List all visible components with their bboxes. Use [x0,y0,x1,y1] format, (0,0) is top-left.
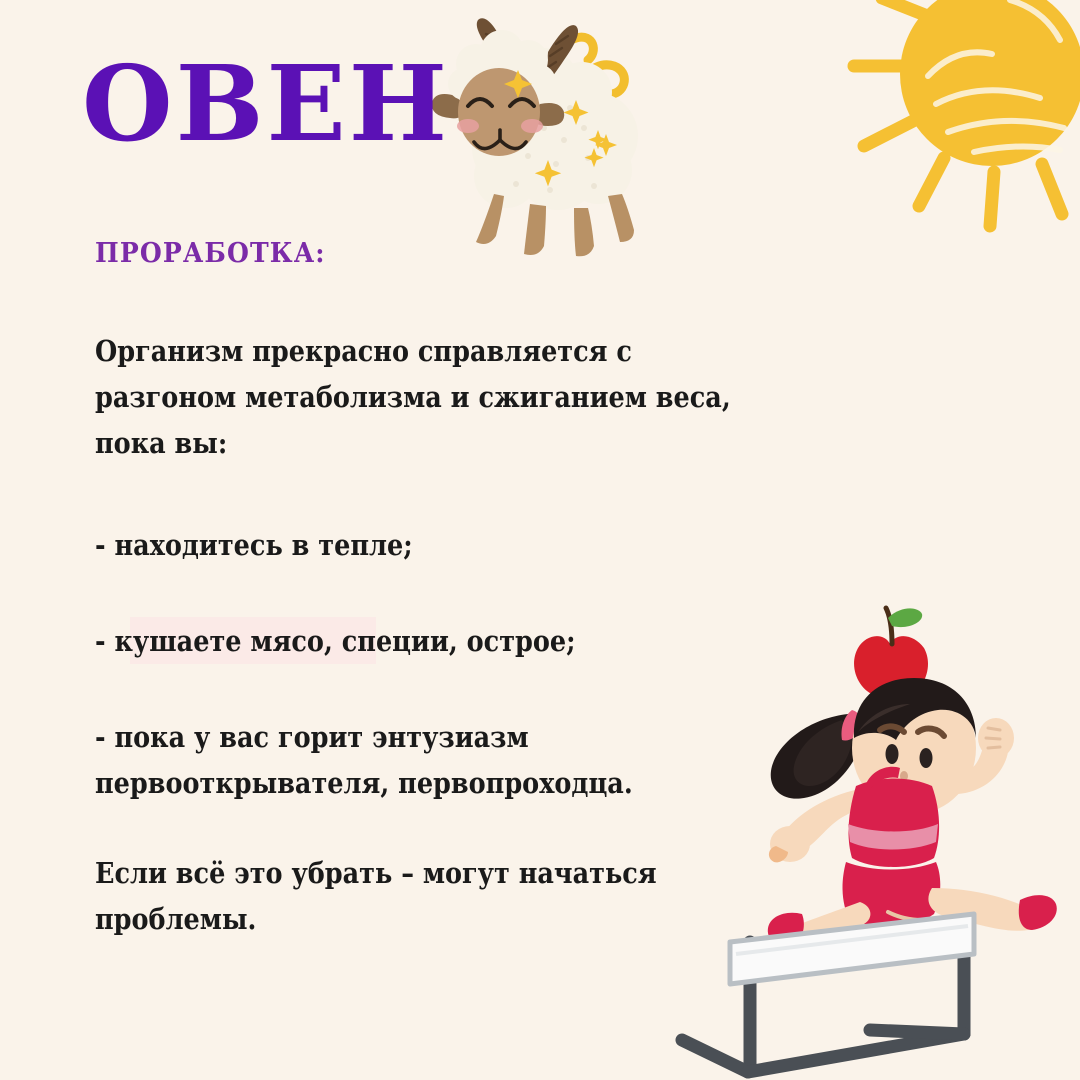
page-title: ОВЕН [82,52,450,156]
bullet-item-1: - находитесь в тепле; [95,522,764,568]
zodiac-post-card: ОВЕН ПРОРАБОТКА: Организм прекрасно спра… [0,0,1080,1080]
outro-paragraph: Если всё это убрать – могут начаться про… [95,850,764,942]
bullet-item-3: - пока у вас горит энтузиазм первооткрыв… [95,714,764,806]
intro-paragraph: Организм прекрасно справляется с разгоно… [95,328,764,466]
section-subtitle: ПРОРАБОТКА: [95,238,326,269]
sun-icon [824,0,1080,246]
red-apple-icon [854,608,928,697]
sparkle-group [504,70,617,186]
bullet-item-2: - кушаете мясо, специи, острое; [95,618,764,664]
body-copy: Организм прекрасно справляется с разгоно… [95,328,855,942]
